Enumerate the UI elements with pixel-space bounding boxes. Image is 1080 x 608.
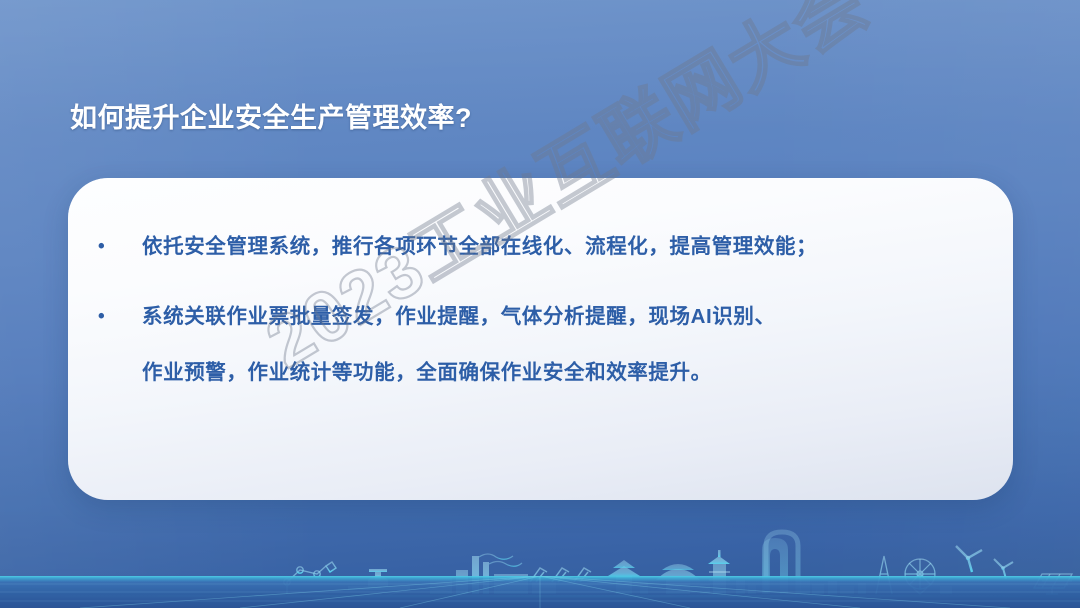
list-item: • 系统关联作业票批量签发，作业提醒，气体分析提醒，现场AI识别、 作业预警，作… bbox=[92, 300, 991, 390]
page-title: 如何提升企业安全生产管理效率? bbox=[70, 96, 472, 135]
list-item-line: 系统关联作业票批量签发，作业提醒，气体分析提醒，现场AI识别、 bbox=[142, 300, 991, 334]
ground-perspective-lines bbox=[0, 576, 1080, 608]
bullet-marker-icon: • bbox=[92, 300, 142, 334]
list-item: • 依托安全管理系统，推行各项环节全部在线化、流程化，提高管理效能； bbox=[92, 230, 991, 264]
skyline-illustration bbox=[0, 512, 1080, 608]
list-item-text: 系统关联作业票批量签发，作业提醒，气体分析提醒，现场AI识别、 作业预警，作业统… bbox=[142, 300, 991, 390]
content-card: • 依托安全管理系统，推行各项环节全部在线化、流程化，提高管理效能； • 系统关… bbox=[68, 178, 1013, 500]
bullet-marker-icon: • bbox=[92, 230, 142, 264]
bullet-list: • 依托安全管理系统，推行各项环节全部在线化、流程化，提高管理效能； • 系统关… bbox=[92, 230, 991, 390]
list-item-text: 依托安全管理系统，推行各项环节全部在线化、流程化，提高管理效能； bbox=[142, 230, 991, 264]
ground-plane bbox=[0, 576, 1080, 608]
list-item-line: 依托安全管理系统，推行各项环节全部在线化、流程化，提高管理效能； bbox=[142, 230, 991, 264]
slide-canvas: 如何提升企业安全生产管理效率? • 依托安全管理系统，推行各项环节全部在线化、流… bbox=[0, 0, 1080, 608]
list-item-line: 作业预警，作业统计等功能，全面确保作业安全和效率提升。 bbox=[142, 356, 991, 390]
